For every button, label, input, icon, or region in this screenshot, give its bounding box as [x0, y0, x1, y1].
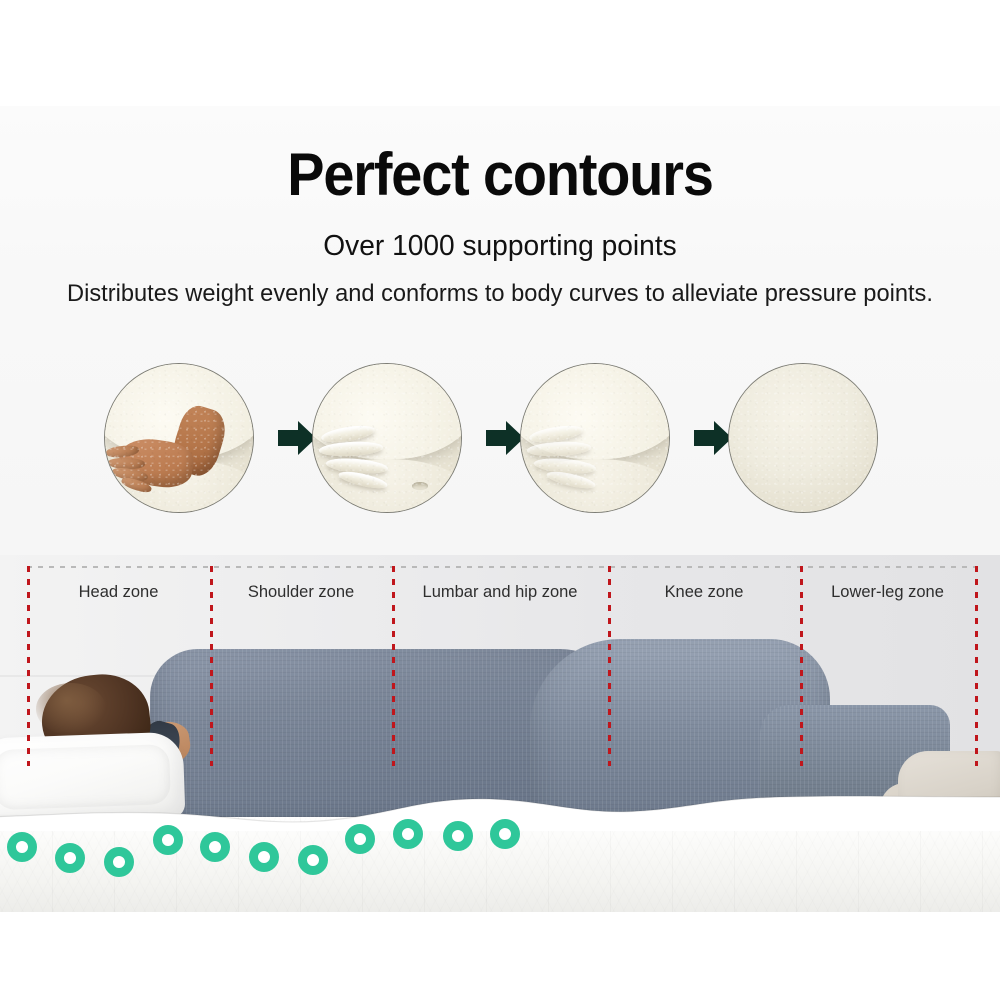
support-point-marker [298, 845, 328, 875]
foam-recovery-sequence [0, 363, 1000, 513]
foam-grain-texture [521, 364, 669, 512]
infographic-page: Perfect contours Over 1000 supporting po… [0, 0, 1000, 1000]
support-point-marker [7, 832, 37, 862]
support-point-marker [200, 832, 230, 862]
foam-grain-texture [313, 364, 461, 512]
page-description: Distributes weight evenly and conforms t… [8, 278, 993, 310]
zone-label-shoulder: Shoulder zone [213, 581, 390, 603]
page-title: Perfect contours [35, 140, 965, 210]
support-point-marker [345, 824, 375, 854]
zone-label-knee: Knee zone [611, 581, 797, 603]
foam-step-fading-imprint [520, 363, 670, 513]
zone-label-lumbar: Lumbar and hip zone [395, 581, 605, 603]
support-point-marker [104, 847, 134, 877]
sequence-arrow-icon [486, 420, 524, 456]
support-point-marker [249, 842, 279, 872]
sequence-arrow-icon [278, 420, 316, 456]
support-point-marker [443, 821, 473, 851]
comfort-zones: Head zone Shoulder zone Lumbar and hip z… [0, 555, 1000, 627]
foam-step-recovered-foam [728, 363, 878, 513]
bottom-white-band [0, 912, 1000, 1000]
foam-step-hand-pressing-foam [104, 363, 254, 513]
support-point-marker [393, 819, 423, 849]
zone-top-dashed-line [27, 566, 978, 568]
support-point-marker [153, 825, 183, 855]
zone-label-lower-leg: Lower-leg zone [803, 581, 973, 603]
support-point-marker [490, 819, 520, 849]
top-white-band [0, 0, 1000, 106]
page-subtitle: Over 1000 supporting points [15, 228, 985, 264]
foam-grain-texture [105, 364, 253, 512]
hair-highlight [36, 683, 106, 735]
foam-step-deep-imprint [312, 363, 462, 513]
zone-divider [975, 566, 978, 766]
sequence-arrow-icon [694, 420, 732, 456]
support-point-marker [55, 843, 85, 873]
foam-grain-texture [729, 364, 877, 512]
zone-label-head: Head zone [30, 581, 208, 603]
